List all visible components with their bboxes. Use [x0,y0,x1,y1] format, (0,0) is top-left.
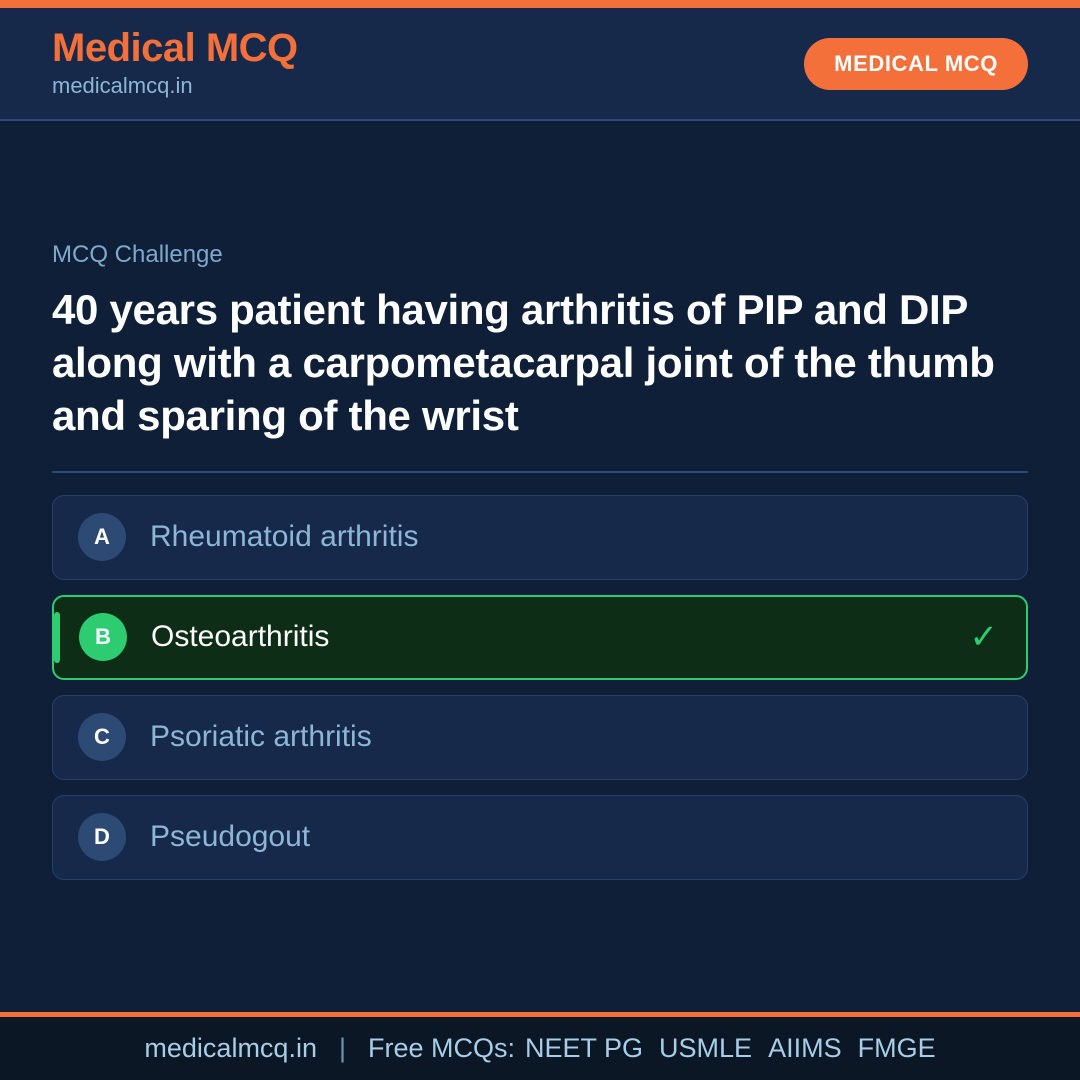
mcq-card: Medical MCQ medicalmcq.in MEDICAL MCQ MC… [0,0,1080,1080]
option-b[interactable]: B Osteoarthritis ✓ [52,595,1028,680]
option-a[interactable]: A Rheumatoid arthritis [52,495,1028,580]
header: Medical MCQ medicalmcq.in MEDICAL MCQ [0,8,1080,121]
footer-exam-neet-pg[interactable]: NEET PG [525,1033,643,1064]
footer-exam-aiims[interactable]: AIIMS [768,1033,842,1064]
options-list: A Rheumatoid arthritis B Osteoarthritis … [52,495,1028,880]
option-label: Osteoarthritis [151,619,954,655]
section-divider [52,471,1028,473]
footer-site[interactable]: medicalmcq.in [144,1033,317,1064]
option-d[interactable]: D Pseudogout [52,795,1028,880]
footer-content: medicalmcq.in | Free MCQs: NEET PG USMLE… [144,1033,935,1064]
footer-separator: | [339,1033,346,1064]
eyebrow-label: MCQ Challenge [52,241,1028,270]
question-text: 40 years patient having arthritis of PIP… [52,284,1012,443]
option-letter-badge: D [78,813,126,861]
option-label: Rheumatoid arthritis [150,519,999,555]
option-letter-badge: B [79,613,127,661]
check-icon: ✓ [970,620,999,654]
footer-exam-fmge[interactable]: FMGE [858,1033,936,1064]
option-letter-badge: C [78,713,126,761]
header-badge: MEDICAL MCQ [804,38,1028,90]
option-label: Psoriatic arthritis [150,719,999,755]
brand: Medical MCQ medicalmcq.in [52,27,298,100]
brand-subtitle: medicalmcq.in [52,72,298,100]
brand-title: Medical MCQ [52,27,298,70]
correct-accent-bar [54,612,60,663]
option-c[interactable]: C Psoriatic arthritis [52,695,1028,780]
option-label: Pseudogout [150,819,999,855]
option-letter-badge: A [78,513,126,561]
main-content: MCQ Challenge 40 years patient having ar… [0,121,1080,1012]
footer-exam-usmle[interactable]: USMLE [659,1033,752,1064]
footer-label: Free MCQs: [368,1033,515,1064]
top-accent-bar [0,0,1080,8]
footer: medicalmcq.in | Free MCQs: NEET PG USMLE… [0,1017,1080,1080]
